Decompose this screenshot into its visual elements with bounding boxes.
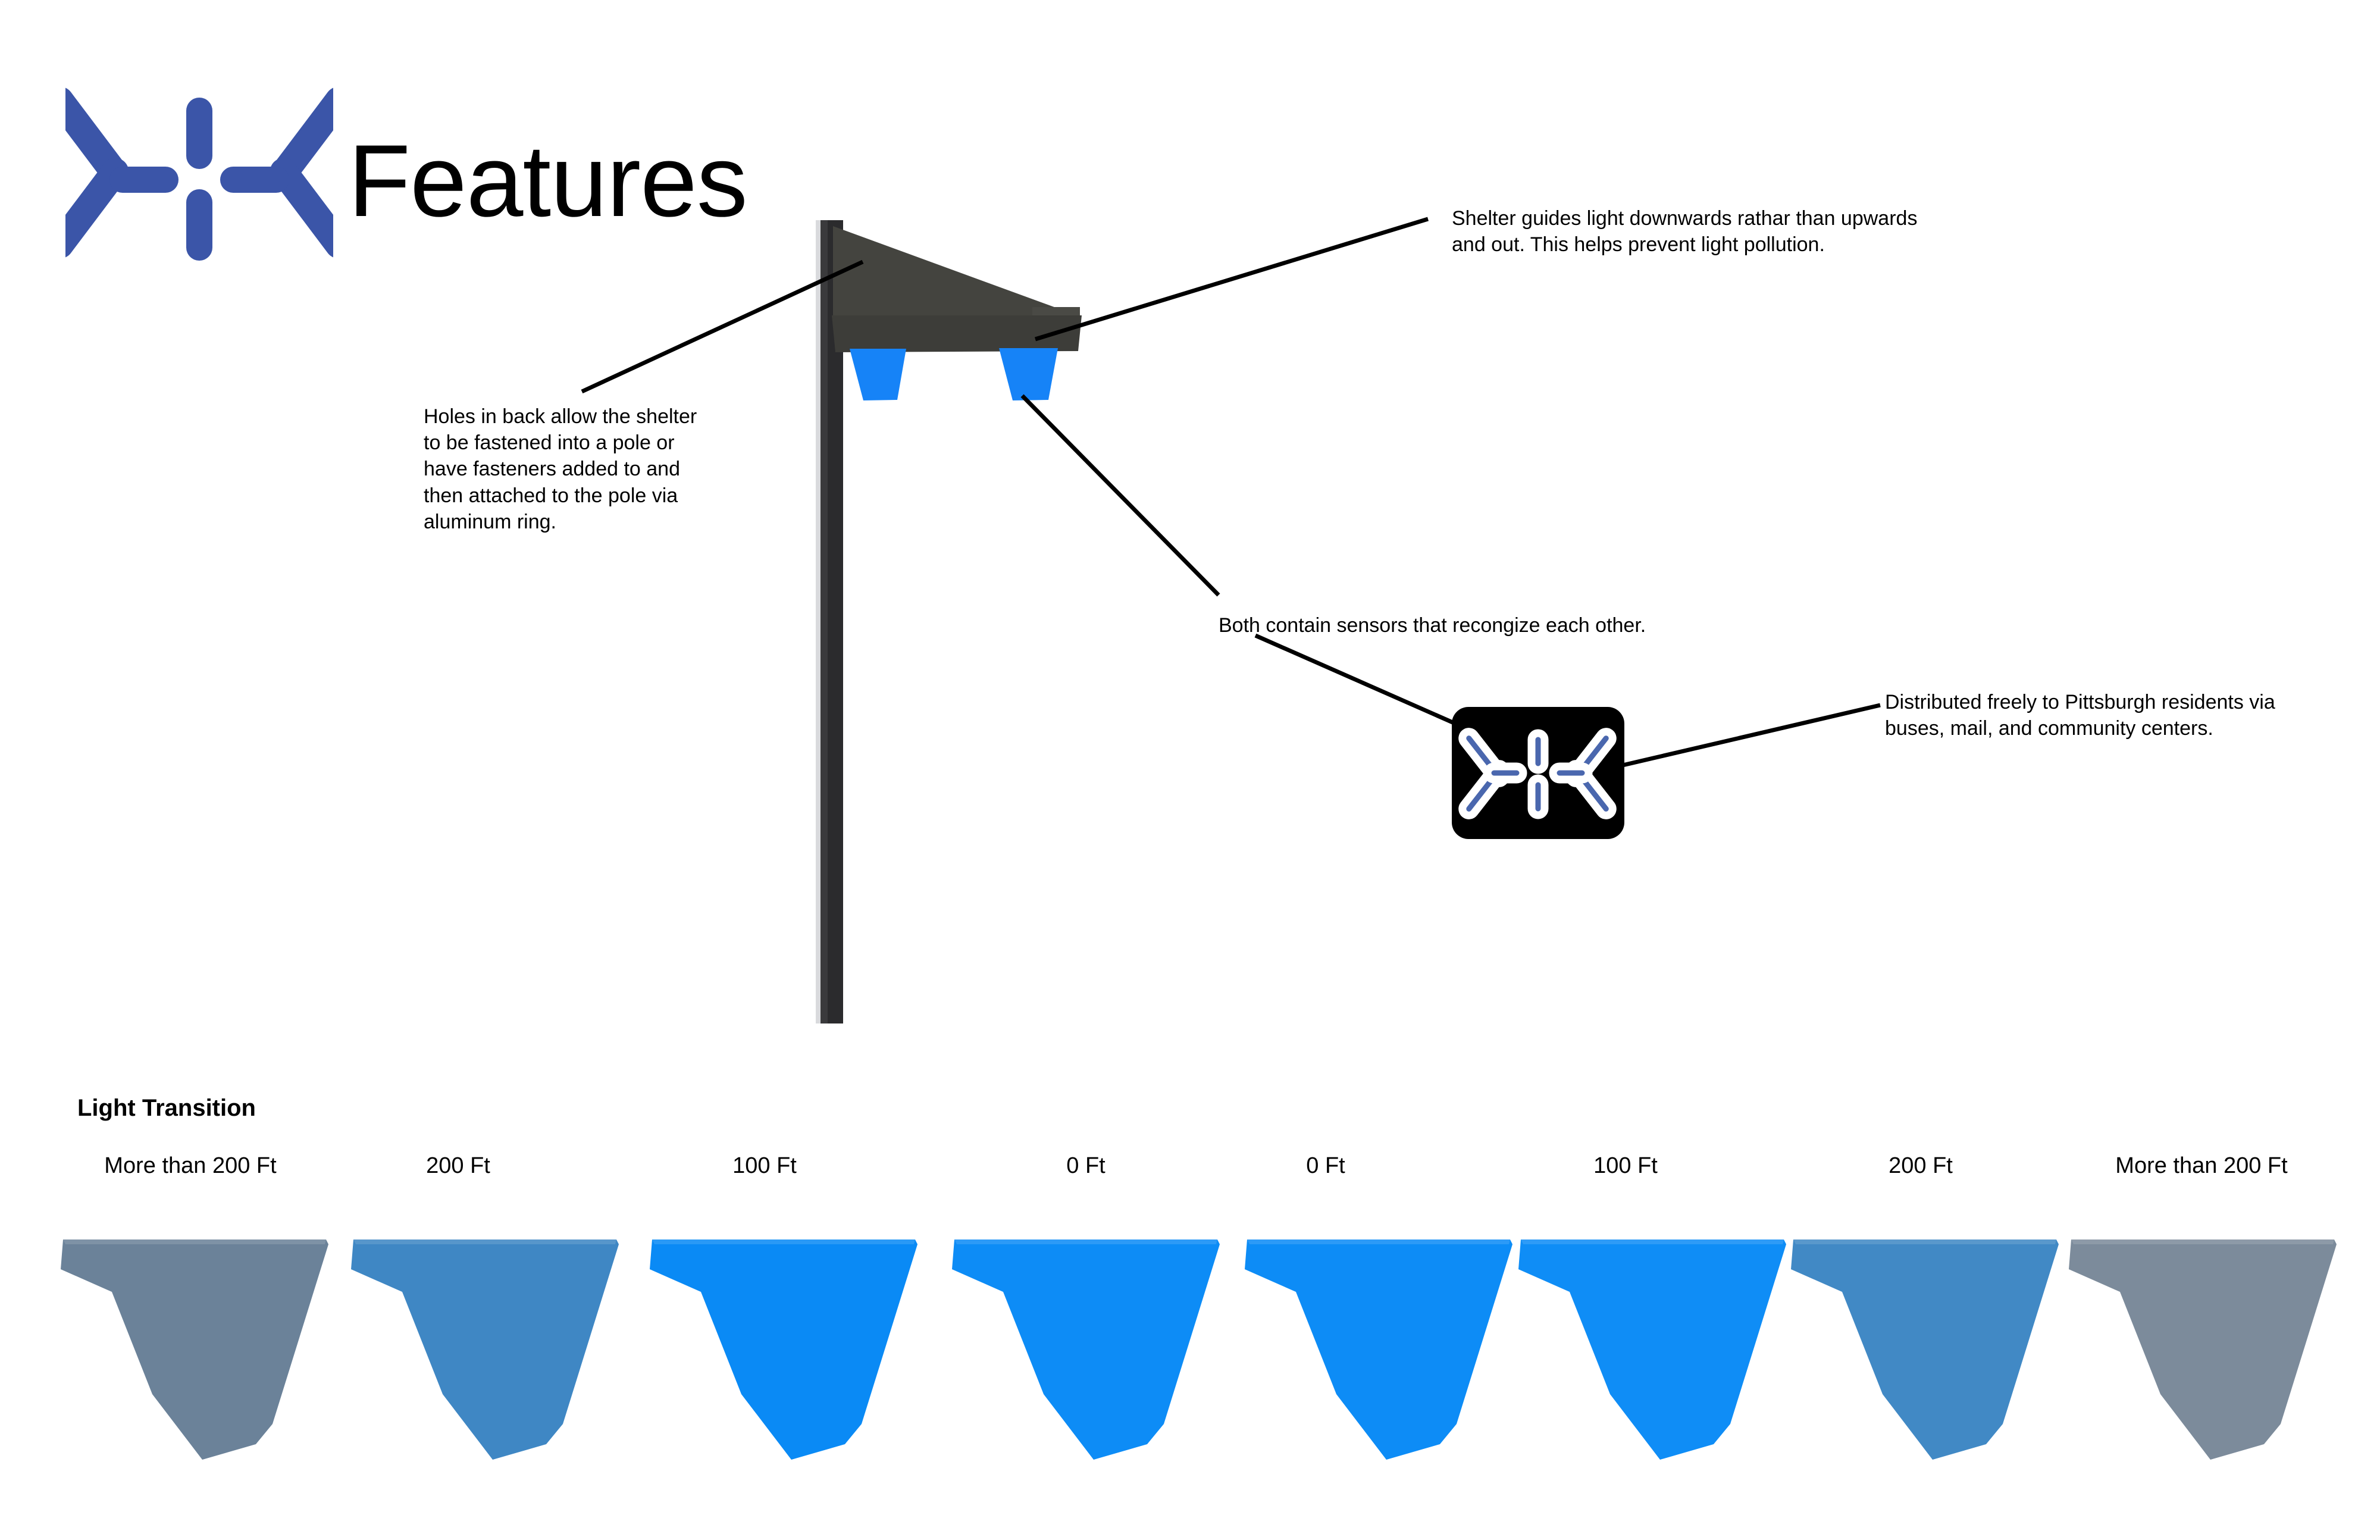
light-cone-bevel <box>353 1239 616 1244</box>
light-cone-bevel <box>2071 1239 2334 1244</box>
leader-line-distribution <box>1612 705 1880 768</box>
leader-line-shelter <box>1035 219 1428 339</box>
leader-line-sensors-device <box>1255 636 1461 726</box>
features-poster: Features <box>0 0 2380 1540</box>
annotation-mounting-holes: Holes in back allow the shelter to be fa… <box>424 403 703 535</box>
shelter-light-cone-left <box>850 349 906 400</box>
shelter-wedge <box>833 226 1077 315</box>
light-cone <box>952 1239 1220 1460</box>
light-transition-label: 0 Ft <box>1306 1153 1345 1179</box>
streetlight-illustration <box>0 0 2380 1071</box>
light-cone <box>351 1239 619 1460</box>
annotation-distribution: Distributed freely to Pittsburgh residen… <box>1885 689 2325 741</box>
light-cone <box>1791 1239 2059 1460</box>
light-transition-label: 100 Ft <box>732 1153 797 1179</box>
pole-highlight <box>816 220 821 1023</box>
shelter-light-cone-right <box>999 348 1058 400</box>
light-cone-bevel <box>63 1239 326 1244</box>
light-transition-labels: More than 200 Ft200 Ft100 Ft0 Ft0 Ft100 … <box>0 1153 2380 1189</box>
light-cone-bevel <box>1521 1239 1784 1244</box>
annotation-shelter-light-direction: Shelter guides light downwards rathar th… <box>1452 205 1922 258</box>
annotation-sensors: Both contain sensors that recongize each… <box>1219 612 1695 638</box>
light-transition-heading: Light Transition <box>77 1095 256 1122</box>
light-transition-label: More than 200 Ft <box>104 1153 276 1179</box>
light-cone-bevel <box>1247 1239 1510 1244</box>
light-cone-bevel <box>954 1239 1217 1244</box>
pole-shading <box>821 220 828 1023</box>
light-transition-label: More than 200 Ft <box>2115 1153 2287 1179</box>
light-transition-label: 200 Ft <box>426 1153 490 1179</box>
light-cone <box>61 1239 328 1460</box>
light-cone <box>1245 1239 1512 1460</box>
light-transition-cones <box>0 1235 2380 1491</box>
light-cone <box>1518 1239 1786 1460</box>
light-transition-label: 100 Ft <box>1593 1153 1658 1179</box>
portable-sensor-device[interactable] <box>1452 707 1624 839</box>
leader-line-sensors-lamp <box>1022 396 1219 595</box>
light-transition-label: 0 Ft <box>1066 1153 1105 1179</box>
light-cone <box>2069 1239 2337 1460</box>
light-transition-label: 200 Ft <box>1889 1153 1953 1179</box>
light-cone-bevel <box>652 1239 915 1244</box>
light-cone <box>650 1239 917 1460</box>
light-cone-bevel <box>1793 1239 2056 1244</box>
shelter-body <box>832 315 1082 352</box>
